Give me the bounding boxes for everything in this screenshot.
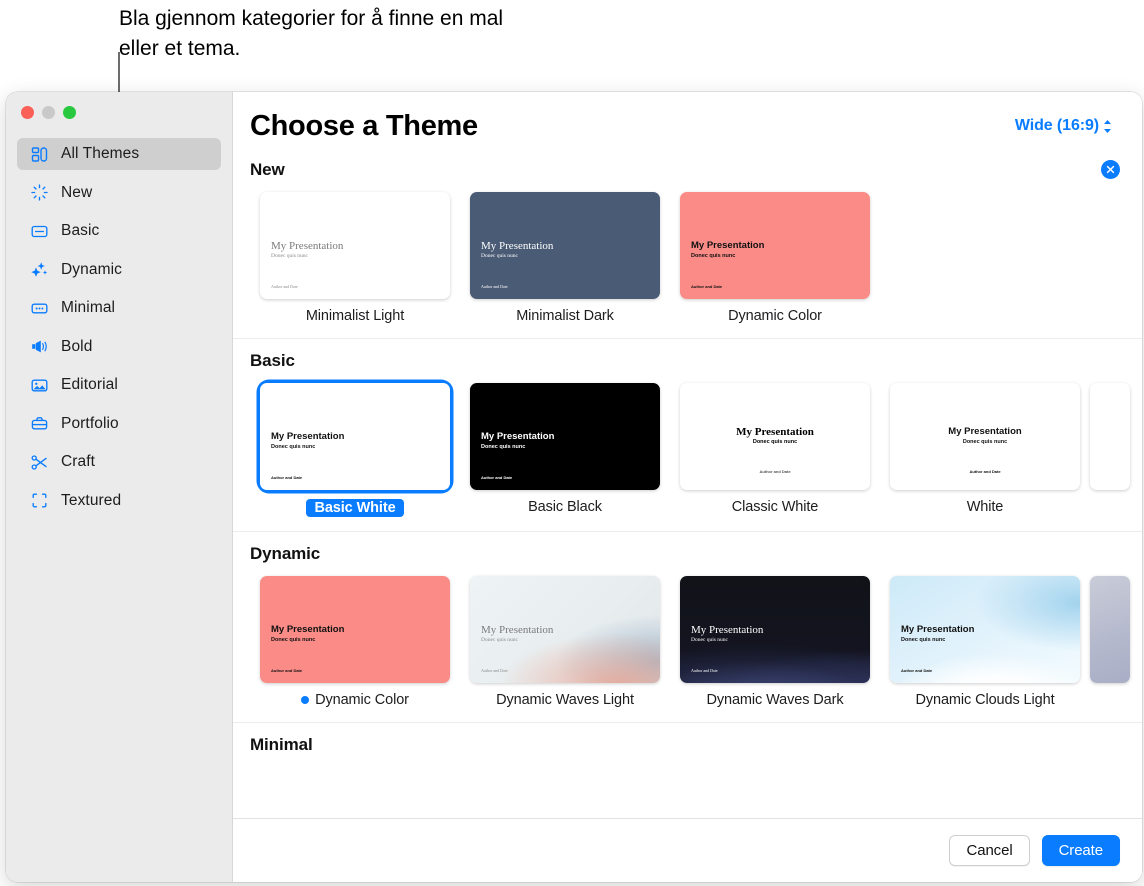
thumbnail-subtitle: Donec quis nunc: [271, 444, 315, 450]
sidebar-item-minimal[interactable]: Minimal: [17, 292, 221, 324]
theme-thumbnail: My Presentation Donec quis nunc Author a…: [890, 383, 1080, 490]
section-title: New: [250, 160, 285, 180]
theme-name: Minimalist Dark: [516, 308, 614, 324]
theme-name-label: Dynamic Clouds Light: [915, 692, 1054, 708]
thumbnail-title: My Presentation: [481, 431, 554, 442]
theme-card-dynamic-waves-dark[interactable]: My Presentation Donec quis nunc Author a…: [670, 576, 880, 708]
theme-section-basic: Basic My Presentation Donec quis nunc Au…: [233, 338, 1142, 517]
thumbnail-subtitle: Donec quis nunc: [271, 637, 315, 643]
theme-thumbnail: My Presentation Donec quis nunc Author a…: [470, 576, 660, 683]
theme-section-new: New My Presentation Donec quis nunc Auth…: [233, 152, 1142, 324]
thumbnail-footer: Author and Date: [481, 284, 508, 289]
thumbnail-footer: Author and Date: [691, 284, 722, 289]
theme-thumbnail: My Presentation Donec quis nunc Author a…: [470, 192, 660, 299]
page-title: Choose a Theme: [250, 110, 478, 143]
theme-card-white[interactable]: My Presentation Donec quis nunc Author a…: [880, 383, 1090, 517]
thumbnail-frame: My Presentation Donec quis nunc Author a…: [890, 576, 1080, 683]
thumbnail-footer: Author and Date: [481, 668, 508, 673]
theme-thumbnail-partial: [1090, 383, 1130, 490]
theme-name: Dynamic Waves Dark: [706, 692, 843, 708]
megaphone-icon: [29, 336, 50, 357]
section-header: Minimal: [233, 723, 1142, 763]
theme-name: Dynamic Color: [728, 308, 822, 324]
theme-card-partial[interactable]: [1090, 576, 1116, 708]
thumbnail-subtitle: Donec quis nunc: [271, 253, 308, 259]
theme-name-label: Dynamic Color: [315, 692, 409, 708]
theme-thumbnail: My Presentation Donec quis nunc Author a…: [890, 576, 1080, 683]
thumbnail-footer: Author and Date: [271, 475, 302, 480]
window-traffic-lights: [21, 106, 76, 119]
close-window-button[interactable]: [21, 106, 34, 119]
callout-text: Bla gjennom kategorier for å finne en ma…: [119, 4, 539, 64]
sidebar: All Themes New Basic Dynamic: [6, 92, 233, 882]
sidebar-item-bold[interactable]: Bold: [17, 331, 221, 363]
theme-name: Dynamic Waves Light: [496, 692, 634, 708]
zoom-window-button[interactable]: [63, 106, 76, 119]
thumbnail-subtitle: Donec quis nunc: [691, 253, 735, 259]
thumbnail-frame: My Presentation Donec quis nunc Author a…: [470, 576, 660, 683]
theme-section-minimal: Minimal: [233, 722, 1142, 763]
thumbnail-title: My Presentation: [680, 426, 870, 438]
section-title: Dynamic: [250, 544, 320, 564]
thumbnail-frame: My Presentation Donec quis nunc Author a…: [680, 383, 870, 490]
sidebar-item-label: New: [61, 184, 92, 202]
theme-name-label: Dynamic Color: [728, 308, 822, 324]
thumbnail-subtitle: Donec quis nunc: [691, 637, 728, 643]
theme-card-dynamic-color-new[interactable]: My Presentation Donec quis nunc Author a…: [670, 192, 880, 324]
thumbnail-frame: My Presentation Donec quis nunc Author a…: [470, 383, 660, 490]
sidebar-item-textured[interactable]: Textured: [17, 485, 221, 517]
thumbnail-title: My Presentation: [890, 426, 1080, 437]
thumbnail-title: My Presentation: [271, 624, 344, 635]
thumbnail-footer: Author and Date: [271, 668, 302, 673]
main-header: Choose a Theme Wide (16:9): [233, 92, 1142, 152]
theme-name: Dynamic Color: [301, 692, 409, 708]
dots-box-icon: [29, 298, 50, 319]
thumbnail-frame: My Presentation Donec quis nunc Author a…: [260, 576, 450, 683]
thumbnail-footer: Author and Date: [691, 668, 718, 673]
theme-card-basic-black[interactable]: My Presentation Donec quis nunc Author a…: [460, 383, 670, 517]
thumbnail-frame: My Presentation Donec quis nunc Author a…: [680, 192, 870, 299]
thumbnail-footer: Author and Date: [680, 469, 870, 474]
sidebar-item-label: Minimal: [61, 299, 115, 317]
theme-thumbnail: My Presentation Donec quis nunc Author a…: [680, 383, 870, 490]
thumbnail-title: My Presentation: [901, 624, 974, 635]
aspect-ratio-select[interactable]: Wide (16:9): [1015, 117, 1112, 135]
theme-grid: My Presentation Donec quis nunc Author a…: [233, 383, 1142, 517]
theme-name: Dynamic Clouds Light: [915, 692, 1054, 708]
sidebar-item-label: Bold: [61, 338, 92, 356]
crop-frame-icon: [29, 490, 50, 511]
theme-section-dynamic: Dynamic My Presentation Donec quis nunc …: [233, 531, 1142, 708]
theme-grid: My Presentation Donec quis nunc Author a…: [233, 576, 1142, 708]
thumbnail-title: My Presentation: [691, 240, 764, 251]
sidebar-item-label: All Themes: [61, 145, 139, 163]
section-header: New: [233, 152, 1142, 192]
theme-scroll-area[interactable]: New My Presentation Donec quis nunc Auth…: [233, 152, 1142, 819]
thumbnail-title: My Presentation: [481, 240, 553, 252]
sidebar-item-editorial[interactable]: Editorial: [17, 369, 221, 401]
sidebar-item-label: Textured: [61, 492, 121, 510]
thumbnail-title: My Presentation: [691, 624, 763, 636]
theme-card-dynamic-waves-light[interactable]: My Presentation Donec quis nunc Author a…: [460, 576, 670, 708]
thumbnail-title: My Presentation: [271, 431, 344, 442]
cancel-button[interactable]: Cancel: [949, 835, 1029, 866]
theme-name-label: Basic White: [314, 500, 395, 516]
theme-thumbnail: My Presentation Donec quis nunc Author a…: [260, 383, 450, 490]
all-themes-icon: [29, 144, 50, 165]
section-title: Minimal: [250, 735, 313, 755]
sidebar-item-portfolio[interactable]: Portfolio: [17, 408, 221, 440]
theme-thumbnail: My Presentation Donec quis nunc Author a…: [680, 192, 870, 299]
thumbnail-subtitle: Donec quis nunc: [890, 439, 1080, 445]
sidebar-item-craft[interactable]: Craft: [17, 446, 221, 478]
thumbnail-footer: Author and Date: [901, 668, 932, 673]
thumbnail-footer: Author and Date: [890, 469, 1080, 474]
theme-card-classic-white[interactable]: My Presentation Donec quis nunc Author a…: [670, 383, 880, 517]
sidebar-item-label: Dynamic: [61, 261, 122, 279]
sparkle-burst-icon: [29, 182, 50, 203]
thumbnail-footer: Author and Date: [271, 284, 298, 289]
dialog-footer: Cancel Create: [233, 818, 1142, 882]
text-box-icon: [29, 221, 50, 242]
thumbnail-title: My Presentation: [481, 624, 553, 636]
scissors-icon: [29, 452, 50, 473]
theme-thumbnail-partial: [1090, 576, 1130, 683]
theme-card-minimalist-light[interactable]: My Presentation Donec quis nunc Author a…: [250, 192, 460, 324]
theme-card-dynamic-color[interactable]: My Presentation Donec quis nunc Author a…: [250, 576, 460, 708]
theme-name-label: Dynamic Waves Light: [496, 692, 634, 708]
sparkles-icon: [29, 259, 50, 280]
thumbnail-subtitle: Donec quis nunc: [901, 637, 945, 643]
thumbnail-frame: My Presentation Donec quis nunc Author a…: [890, 383, 1080, 490]
main-panel: Choose a Theme Wide (16:9) New: [233, 92, 1142, 882]
thumbnail-frame: My Presentation Donec quis nunc Author a…: [680, 576, 870, 683]
theme-card-minimalist-dark[interactable]: My Presentation Donec quis nunc Author a…: [460, 192, 670, 324]
thumbnail-frame: My Presentation Donec quis nunc Author a…: [260, 192, 450, 299]
thumbnail-subtitle: Donec quis nunc: [680, 439, 870, 445]
theme-grid: My Presentation Donec quis nunc Author a…: [233, 192, 1142, 324]
current-theme-dot-icon: [301, 696, 309, 704]
sidebar-item-label: Basic: [61, 222, 99, 240]
theme-name: Classic White: [732, 499, 819, 515]
theme-name-selected: Basic White: [306, 499, 403, 517]
sidebar-item-label: Editorial: [61, 376, 118, 394]
briefcase-icon: [29, 413, 50, 434]
theme-thumbnail: My Presentation Donec quis nunc Author a…: [470, 383, 660, 490]
thumbnail-subtitle: Donec quis nunc: [481, 253, 518, 259]
theme-name: White: [967, 499, 1004, 515]
close-circle-icon[interactable]: [1101, 160, 1120, 179]
thumbnail-footer: Author and Date: [481, 475, 512, 480]
create-button[interactable]: Create: [1042, 835, 1120, 866]
theme-name: Minimalist Light: [306, 308, 404, 324]
choose-theme-window: All Themes New Basic Dynamic: [6, 92, 1142, 882]
section-header: Dynamic: [233, 532, 1142, 576]
sidebar-item-new[interactable]: New: [17, 177, 221, 209]
theme-thumbnail: My Presentation Donec quis nunc Author a…: [680, 576, 870, 683]
theme-name: Basic Black: [528, 499, 602, 515]
sidebar-item-label: Portfolio: [61, 415, 119, 433]
theme-card-dynamic-clouds-light[interactable]: My Presentation Donec quis nunc Author a…: [880, 576, 1090, 708]
thumbnail-title: My Presentation: [271, 240, 343, 252]
section-header: Basic: [233, 339, 1142, 383]
theme-name-label: Minimalist Dark: [516, 308, 614, 324]
theme-card-basic-white[interactable]: My Presentation Donec quis nunc Author a…: [250, 383, 460, 517]
theme-thumbnail: My Presentation Donec quis nunc Author a…: [260, 576, 450, 683]
theme-name-label: Basic Black: [528, 499, 602, 515]
sidebar-item-dynamic[interactable]: Dynamic: [17, 254, 221, 286]
sidebar-category-list: All Themes New Basic Dynamic: [6, 138, 232, 523]
sidebar-item-all-themes[interactable]: All Themes: [17, 138, 221, 170]
sidebar-item-basic[interactable]: Basic: [17, 215, 221, 247]
chevron-up-down-icon: [1103, 119, 1112, 134]
thumbnail-frame-selected: My Presentation Donec quis nunc Author a…: [260, 383, 450, 490]
minimize-window-button[interactable]: [42, 106, 55, 119]
theme-name-label: White: [967, 499, 1004, 515]
thumbnail-subtitle: Donec quis nunc: [481, 444, 525, 450]
theme-card-partial[interactable]: [1090, 383, 1116, 517]
theme-name-label: Minimalist Light: [306, 308, 404, 324]
photo-icon: [29, 375, 50, 396]
theme-name-label: Classic White: [732, 499, 819, 515]
theme-name-label: Dynamic Waves Dark: [706, 692, 843, 708]
thumbnail-subtitle: Donec quis nunc: [481, 637, 518, 643]
theme-thumbnail: My Presentation Donec quis nunc Author a…: [260, 192, 450, 299]
aspect-ratio-value: Wide (16:9): [1015, 117, 1099, 135]
sidebar-item-label: Craft: [61, 453, 95, 471]
thumbnail-frame: My Presentation Donec quis nunc Author a…: [470, 192, 660, 299]
section-title: Basic: [250, 351, 295, 371]
